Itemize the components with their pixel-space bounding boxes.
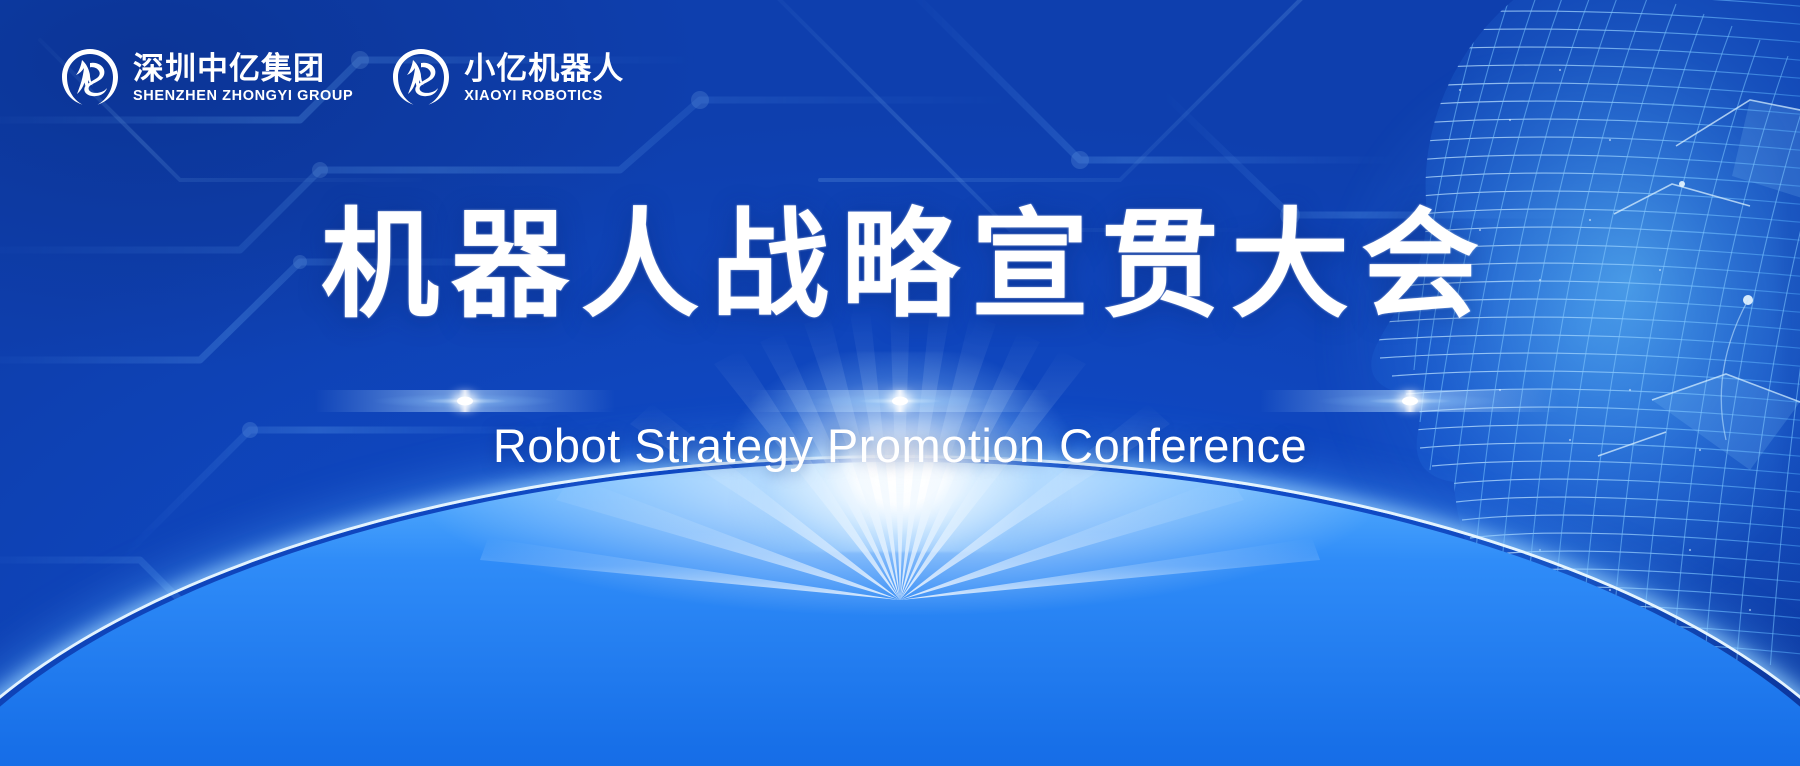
zhongyi-logo-mark xyxy=(58,46,122,110)
logo-xiaoyi-text: 小亿机器人 XIAOYI ROBOTICS xyxy=(464,53,624,104)
headline-block: 机器人战略宣贯大会 xyxy=(0,202,1800,329)
page-title: 机器人战略宣贯大会 xyxy=(0,202,1800,329)
conference-banner: 深圳中亿集团 SHENZHEN ZHONGYI GROUP 小亿机器人 XIAO… xyxy=(0,0,1800,766)
logo-xiaoyi[interactable]: 小亿机器人 XIAOYI ROBOTICS xyxy=(389,46,624,110)
logo-bar: 深圳中亿集团 SHENZHEN ZHONGYI GROUP 小亿机器人 XIAO… xyxy=(58,46,624,110)
logo-xiaoyi-name-en: XIAOYI ROBOTICS xyxy=(464,89,624,104)
logo-zhongyi-text: 深圳中亿集团 SHENZHEN ZHONGYI GROUP xyxy=(133,53,353,104)
xiaoyi-logo-mark xyxy=(389,46,453,110)
logo-zhongyi-name-cn: 深圳中亿集团 xyxy=(133,53,353,84)
flare-right xyxy=(1260,390,1560,412)
logo-zhongyi[interactable]: 深圳中亿集团 SHENZHEN ZHONGYI GROUP xyxy=(58,46,353,110)
flare-center xyxy=(750,390,1050,412)
logo-xiaoyi-name-cn: 小亿机器人 xyxy=(464,53,624,84)
page-subtitle: Robot Strategy Promotion Conference xyxy=(0,418,1800,473)
flare-left xyxy=(315,390,615,412)
flare-divider xyxy=(0,390,1800,412)
logo-zhongyi-name-en: SHENZHEN ZHONGYI GROUP xyxy=(133,89,353,104)
